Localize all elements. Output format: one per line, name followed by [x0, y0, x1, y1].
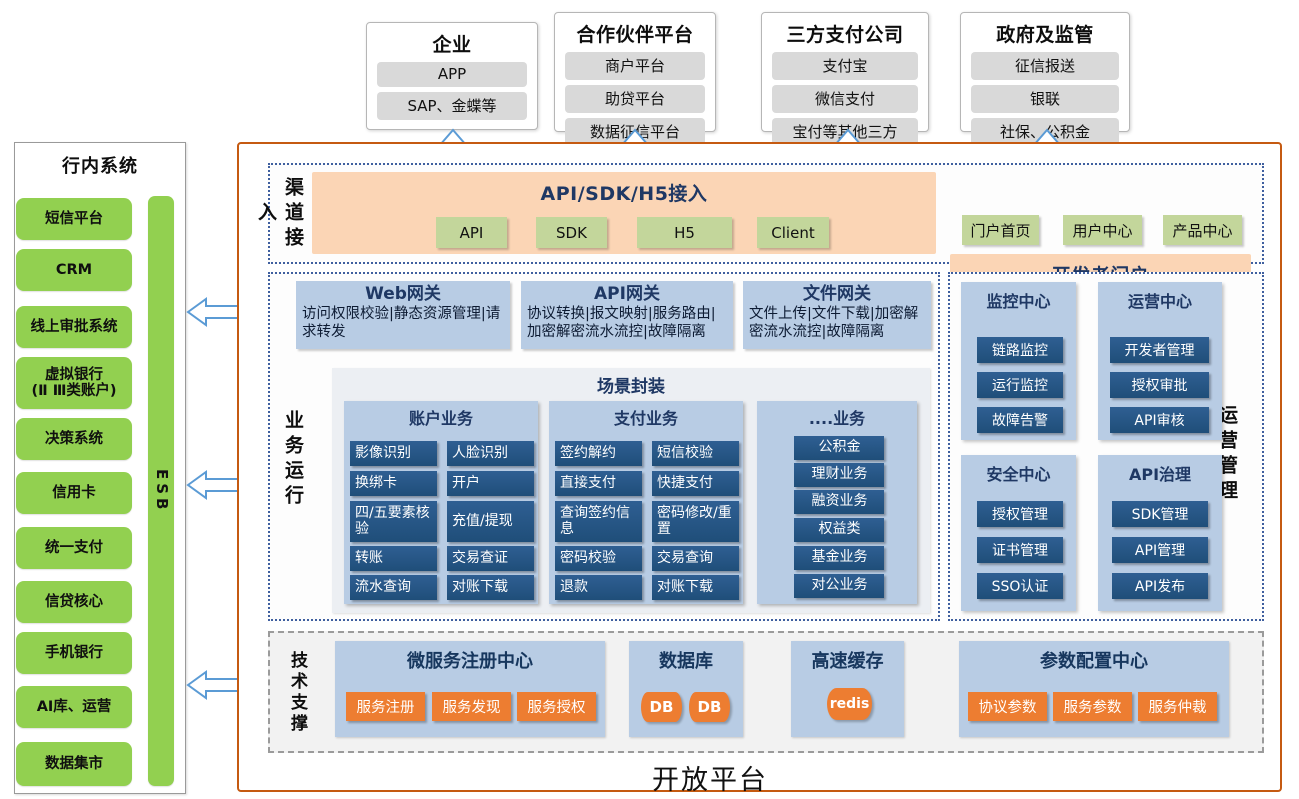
bank-system-item[interactable]: 线上审批系统 [16, 306, 132, 348]
tech-support-vlabel: 技术支撑 [286, 645, 310, 741]
ops-card-title: 运营中心 [1098, 282, 1222, 316]
ops-item[interactable]: 故障告警 [977, 407, 1063, 433]
actor-title: 三方支付公司 [786, 20, 903, 47]
gateway-card-api[interactable]: API网关 协议转换|报文映射|服务路由|加密解密流水流控|故障隔离 [521, 281, 733, 349]
actor-card-enterprise: 企业 APP SAP、金蝶等 [366, 22, 538, 130]
service-chip[interactable]: 密码修改/重置 [652, 501, 739, 542]
architecture-diagram: 企业 APP SAP、金蝶等 合作伙伴平台 商户平台 助贷平台 数据征信平台 三… [0, 0, 1299, 799]
bank-system-item[interactable]: 数据集市 [16, 742, 132, 786]
portal-chip-user-center[interactable]: 用户中心 [1063, 215, 1142, 245]
service-chip[interactable]: 交易查询 [652, 546, 739, 571]
esb-label: ESB [153, 469, 169, 513]
ops-item[interactable]: API管理 [1112, 537, 1208, 563]
gateway-card-file[interactable]: 文件网关 文件上传|文件下载|加密解密流水流控|故障隔离 [743, 281, 931, 349]
tech-card-microservice-registry: 微服务注册中心 [335, 641, 605, 737]
actor-card-third-party-payment: 三方支付公司 支付宝 微信支付 宝付等其他三方 [761, 12, 929, 132]
service-chip[interactable]: 密码校验 [555, 546, 642, 571]
ops-card-title: 安全中心 [961, 455, 1076, 489]
tech-chip[interactable]: 服务参数 [1053, 692, 1132, 721]
ops-item[interactable]: 证书管理 [977, 537, 1063, 563]
service-chip[interactable]: 开户 [447, 471, 534, 496]
api-access-title: API/SDK/H5接入 [312, 172, 936, 206]
service-chip[interactable]: 公积金 [794, 436, 884, 460]
portal-chip-home[interactable]: 门户首页 [962, 215, 1039, 245]
service-chip[interactable]: 流水查询 [350, 575, 437, 600]
tech-card-title: 高速缓存 [791, 641, 904, 673]
ops-item[interactable]: 授权审批 [1110, 372, 1209, 398]
actor-item: 银联 [971, 85, 1119, 113]
tech-chip[interactable]: 服务发现 [432, 692, 511, 721]
database-icon[interactable]: DB [641, 692, 682, 722]
actor-item: 支付宝 [772, 52, 918, 80]
redis-icon[interactable]: redis [827, 688, 872, 720]
service-chip[interactable]: 理财业务 [794, 463, 884, 487]
channel-access-vlabel: 渠道接入 [281, 170, 307, 258]
service-chip[interactable]: 对公业务 [794, 574, 884, 598]
service-chip[interactable]: 短信校验 [652, 441, 739, 466]
ops-item[interactable]: API审核 [1110, 407, 1209, 433]
bank-system-item[interactable]: AI库、运营 [16, 686, 132, 728]
diagram-bottom-title: 开放平台 [560, 758, 860, 797]
api-access-band: API/SDK/H5接入 [312, 172, 936, 254]
service-chip[interactable]: 转账 [350, 546, 437, 571]
bank-system-item[interactable]: 决策系统 [16, 418, 132, 460]
gateway-title: API网关 [527, 284, 727, 304]
tech-card-title: 微服务注册中心 [335, 641, 605, 673]
actor-item: 征信报送 [971, 52, 1119, 80]
scene-column-title: 账户业务 [344, 401, 538, 432]
actor-title: 合作伙伴平台 [576, 20, 693, 47]
gateway-desc: 文件上传|文件下载|加密解密流水流控|故障隔离 [749, 306, 925, 340]
gateway-title: Web网关 [302, 284, 504, 304]
service-chip[interactable]: 融资业务 [794, 490, 884, 514]
bank-system-item[interactable]: 统一支付 [16, 527, 132, 569]
service-chip[interactable]: 权益类 [794, 518, 884, 542]
actor-item: 微信支付 [772, 85, 918, 113]
ops-card-title: 监控中心 [961, 282, 1076, 316]
channel-chip-sdk[interactable]: SDK [536, 217, 607, 248]
ops-item[interactable]: API发布 [1112, 573, 1208, 599]
tech-chip[interactable]: 服务注册 [346, 692, 425, 721]
business-running-vlabel: 业务运行 [281, 400, 307, 520]
ops-item[interactable]: SDK管理 [1112, 501, 1208, 527]
bank-system-item[interactable]: 手机银行 [16, 632, 132, 674]
ops-item[interactable]: 链路监控 [977, 337, 1063, 363]
bank-system-item[interactable]: CRM [16, 249, 132, 291]
service-chip[interactable]: 退款 [555, 575, 642, 600]
service-chip[interactable]: 查询签约信息 [555, 501, 642, 542]
tech-card-param-config: 参数配置中心 [959, 641, 1229, 737]
service-chip[interactable]: 基金业务 [794, 546, 884, 570]
bank-system-item[interactable]: 虚拟银行 (Ⅱ Ⅲ类账户) [16, 357, 132, 409]
tech-chip[interactable]: 服务仲裁 [1138, 692, 1217, 721]
ops-item[interactable]: 开发者管理 [1110, 337, 1209, 363]
database-icon[interactable]: DB [689, 692, 730, 722]
service-chip[interactable]: 签约解约 [555, 441, 642, 466]
bank-system-item[interactable]: 信贷核心 [16, 581, 132, 623]
actor-title: 企业 [432, 30, 471, 57]
actor-card-partner-platform: 合作伙伴平台 商户平台 助贷平台 数据征信平台 [554, 12, 716, 132]
gateway-title: 文件网关 [749, 284, 925, 304]
bank-system-item[interactable]: 短信平台 [16, 198, 132, 240]
tech-card-database: 数据库 [629, 641, 743, 737]
scene-column-title: 支付业务 [549, 401, 743, 432]
actor-item: SAP、金蝶等 [377, 92, 527, 120]
scene-column-title: ....业务 [757, 401, 917, 432]
scene-title: 场景封装 [332, 368, 930, 397]
bank-panel-title: 行内系统 [15, 152, 185, 178]
service-chip[interactable]: 充值/提现 [447, 501, 534, 542]
service-chip[interactable]: 直接支付 [555, 471, 642, 496]
gateway-desc: 协议转换|报文映射|服务路由|加密解密流水流控|故障隔离 [527, 306, 727, 340]
service-chip[interactable]: 四/五要素核验 [350, 501, 437, 542]
service-chip[interactable]: 交易查证 [447, 546, 534, 571]
actor-item: APP [377, 62, 527, 87]
tech-chip[interactable]: 协议参数 [968, 692, 1047, 721]
channel-chip-h5[interactable]: H5 [637, 217, 732, 248]
tech-card-title: 参数配置中心 [959, 641, 1229, 673]
ops-item[interactable]: 授权管理 [977, 501, 1063, 527]
bank-system-item[interactable]: 信用卡 [16, 472, 132, 514]
gateway-desc: 访问权限校验|静态资源管理|请求转发 [302, 306, 504, 340]
service-chip[interactable]: 换绑卡 [350, 471, 437, 496]
ops-item[interactable]: 运行监控 [977, 372, 1063, 398]
esb-bus: ESB [148, 196, 174, 786]
tech-card-title: 数据库 [629, 641, 743, 673]
service-chip[interactable]: 对账下载 [652, 575, 739, 600]
channel-chip-client[interactable]: Client [757, 217, 829, 248]
actor-item: 商户平台 [565, 52, 705, 80]
service-chip[interactable]: 影像识别 [350, 441, 437, 466]
actor-title: 政府及监管 [996, 20, 1094, 47]
ops-item[interactable]: SSO认证 [977, 573, 1063, 599]
ops-card-title: API治理 [1098, 455, 1222, 489]
gateway-card-web[interactable]: Web网关 访问权限校验|静态资源管理|请求转发 [296, 281, 510, 349]
tech-chip[interactable]: 服务授权 [517, 692, 596, 721]
actor-item: 助贷平台 [565, 85, 705, 113]
actor-card-government-regulator: 政府及监管 征信报送 银联 社保、公积金 [960, 12, 1130, 132]
service-chip[interactable]: 对账下载 [447, 575, 534, 600]
service-chip[interactable]: 人脸识别 [447, 441, 534, 466]
portal-chip-product-center[interactable]: 产品中心 [1163, 215, 1242, 245]
channel-chip-api[interactable]: API [436, 217, 507, 248]
service-chip[interactable]: 快捷支付 [652, 471, 739, 496]
